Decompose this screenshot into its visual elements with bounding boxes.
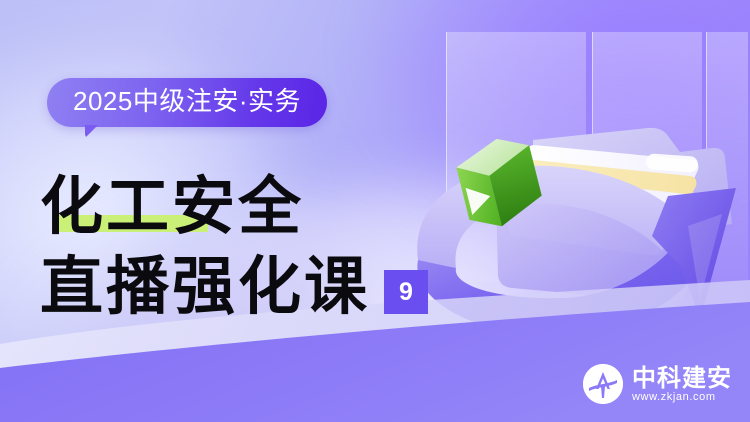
brand-text-group: 中科建安 www.zkjan.com xyxy=(632,366,732,403)
zkjan-circle-logo-icon xyxy=(583,364,623,404)
brand-url: www.zkjan.com xyxy=(632,392,732,403)
title-line-2: 直播强化课 xyxy=(40,255,370,318)
title-block: 化工安全 直播强化课 9 xyxy=(40,160,470,318)
brand-name: 中科建安 xyxy=(632,366,732,390)
brand-logo[interactable]: 中科建安 www.zkjan.com xyxy=(583,364,732,404)
episode-number-badge: 9 xyxy=(384,270,428,314)
course-poster: 2025中级注安·实务 化工安全 直播强化课 9 中科建安 www.zkjan.… xyxy=(0,0,750,422)
title-line-2-row: 直播强化课 9 xyxy=(40,240,470,318)
pill-tail xyxy=(85,125,98,138)
title-line-1: 化工安全 xyxy=(40,175,304,238)
title-line-1-row: 化工安全 xyxy=(40,160,470,238)
pill-label: 2025中级注安·实务 xyxy=(73,86,301,116)
pill-body: 2025中级注安·实务 xyxy=(47,78,327,127)
course-tag-pill[interactable]: 2025中级注安·实务 xyxy=(47,78,327,127)
